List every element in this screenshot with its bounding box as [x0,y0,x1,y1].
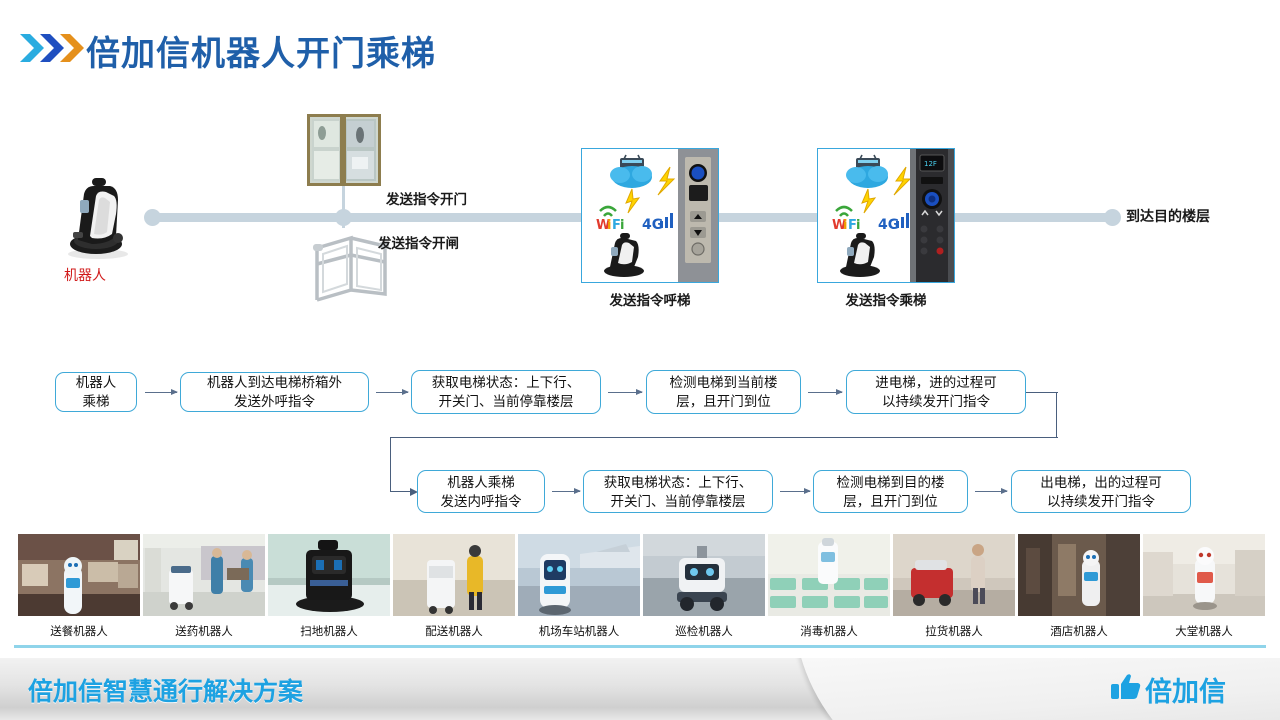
page-header: 倍加信机器人开门乘梯 [0,0,1280,90]
flow-arrow-r1-d [808,392,842,393]
timeline-bar-left [148,213,638,222]
brand-text: 倍加信 [1145,670,1226,709]
gallery-image [18,534,140,616]
gallery-image [643,534,765,616]
gallery-image [768,534,890,616]
svg-text:i: i [843,218,847,233]
flow-box-text: 出电梯，出的过程可 以持续发开门指令 [1040,473,1162,511]
timeline-caption-ride: 发送指令乘梯 [817,289,955,309]
gallery-image [1143,534,1265,616]
start-robot-icon [58,170,138,260]
gallery-caption: 消毒机器人 [768,623,890,639]
brand-logo: 倍加信 [1111,670,1226,709]
page-footer: 倍加信智慧通行解决方案 倍加信 [0,658,1280,720]
flow-box-text: 获取电梯状态：上下行、 开关门、当前停靠楼层 [604,473,753,511]
svg-text:i: i [856,218,860,233]
timeline-end-label: 到达目的楼层 [1126,206,1210,226]
timeline-branch-up [342,185,345,213]
timeline-caption-call: 发送指令呼梯 [581,289,719,309]
flow-arrow-r2-c [975,491,1007,492]
gallery-item-2[interactable]: 扫地机器人 [268,534,390,616]
flow-connector-wrap-v1 [1056,392,1057,438]
gallery-divider-rule [14,645,1266,648]
gallery-caption: 配送机器人 [393,623,515,639]
flow-connector-wrap-h3 [390,491,412,492]
timeline-label-door: 发送指令开门 [386,188,467,208]
flow-box-r2-2[interactable]: 获取电梯状态：上下行、 开关门、当前停靠楼层 [583,470,773,513]
flow-arrow-r2-a [552,491,580,492]
gallery-caption: 机场车站机器人 [518,623,640,639]
gallery-image [268,534,390,616]
flow-box-r2-4[interactable]: 出电梯，出的过程可 以持续发开门指令 [1011,470,1191,513]
process-timeline: 机器人 发送指令开门 [0,95,1280,335]
gallery-item-0[interactable]: 送餐机器人 [18,534,140,616]
robot-application-gallery: 送餐机器人 送药机器人 [0,534,1280,644]
gallery-item-4[interactable]: 机场车站机器人 [518,534,640,616]
svg-text:i: i [620,218,624,233]
svg-text:i: i [607,218,611,233]
gallery-image [143,534,265,616]
start-robot-label: 机器人 [64,265,106,285]
gallery-item-6[interactable]: 消毒机器人 [768,534,890,616]
flow-box-r1-5[interactable]: 进电梯，进的过程可 以持续发开门指令 [846,370,1026,414]
svg-text:12F: 12F [924,160,937,168]
gallery-item-9[interactable]: 大堂机器人 [1143,534,1265,616]
page-title: 倍加信机器人开门乘梯 [86,26,436,75]
glass-door-photo [307,114,381,186]
flow-arrow-r1-a [145,392,177,393]
gallery-image [393,534,515,616]
timeline-dot-start [144,209,161,226]
chevron-logo-icon [18,28,84,68]
flow-box-r2-1[interactable]: 机器人乘梯 发送内呼指令 [417,470,545,513]
gallery-caption: 酒店机器人 [1018,623,1140,639]
flow-box-text: 机器人 乘梯 [76,373,117,411]
flow-connector-wrap-h2 [390,437,1058,438]
gallery-item-8[interactable]: 酒店机器人 [1018,534,1140,616]
flow-box-r1-4[interactable]: 检测电梯到当前楼 层，且开门到位 [646,370,801,414]
flow-box-r1-1[interactable]: 机器人 乘梯 [55,372,137,412]
gallery-item-5[interactable]: 巡检机器人 [643,534,765,616]
flow-arrow-r1-b [376,392,408,393]
gallery-caption: 送药机器人 [143,623,265,639]
timeline-bar-mid [712,213,824,222]
gallery-image [1018,534,1140,616]
footer-title: 倍加信智慧通行解决方案 [28,672,303,708]
gallery-item-1[interactable]: 送药机器人 [143,534,265,616]
flow-arrow-r1-c [608,392,642,393]
gallery-item-3[interactable]: 配送机器人 [393,534,515,616]
gallery-caption: 扫地机器人 [268,623,390,639]
timeline-bar-right [948,213,1113,222]
gallery-item-7[interactable]: 拉货机器人 [893,534,1015,616]
flow-box-r1-3[interactable]: 获取电梯状态：上下行、 开关门、当前停靠楼层 [411,370,601,414]
elevator-car-panel-photo: W i F i 4G 12F [817,148,955,283]
elevator-hall-panel-photo: W i F i 4G [581,148,719,283]
gallery-image [518,534,640,616]
gallery-caption: 巡检机器人 [643,623,765,639]
flow-connector-wrap-v2 [390,437,391,492]
process-flowchart: 机器人 乘梯 机器人到达电梯桥箱外 发送外呼指令 获取电梯状态：上下行、 开关门… [0,360,1280,525]
gallery-caption: 送餐机器人 [18,623,140,639]
flow-box-text: 机器人乘梯 发送内呼指令 [441,473,522,511]
flow-box-text: 进电梯，进的过程可 以持续发开门指令 [875,373,997,411]
flow-connector-wrap-h1 [1026,392,1058,393]
flow-box-text: 获取电梯状态：上下行、 开关门、当前停靠楼层 [432,373,581,411]
gallery-caption: 大堂机器人 [1143,623,1265,639]
flow-box-r1-2[interactable]: 机器人到达电梯桥箱外 发送外呼指令 [180,372,369,412]
flow-box-text: 机器人到达电梯桥箱外 发送外呼指令 [207,373,342,411]
timeline-label-gate: 发送指令开闸 [378,232,459,252]
thumbs-up-icon [1111,673,1141,706]
gallery-image [893,534,1015,616]
flow-arrow-r2-b [780,491,810,492]
timeline-dot-end [1104,209,1121,226]
flow-box-text: 检测电梯到当前楼 层，且开门到位 [670,373,778,411]
flow-box-text: 检测电梯到目的楼 层，且开门到位 [837,473,945,511]
flow-box-r2-3[interactable]: 检测电梯到目的楼 层，且开门到位 [813,470,968,513]
gallery-caption: 拉货机器人 [893,623,1015,639]
